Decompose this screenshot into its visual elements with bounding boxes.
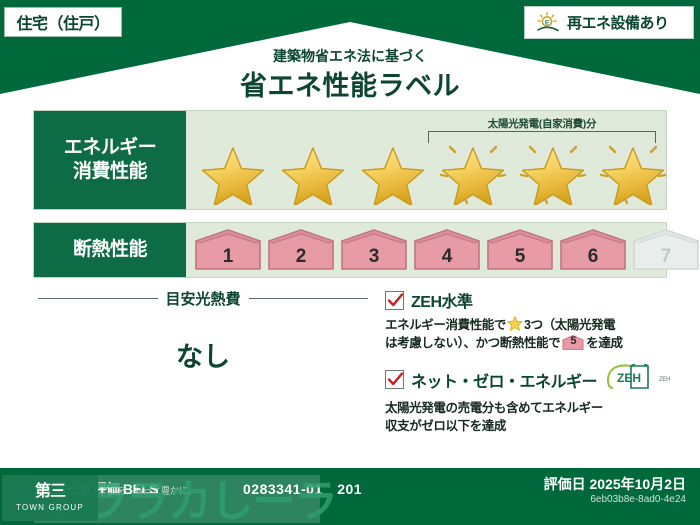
criteria-zeh-head: ZEH水準 — [385, 288, 675, 312]
nze-body-part1: 太陽光発電の売電分も含めてエネルギー — [385, 401, 603, 415]
watermark-logo: 第三 TOWN GROUP — [2, 475, 98, 521]
energy-label-card: 住宅（住戸） E 再エネ設備あり 建築物省エネ法に基づく 省エネ性能ラベル エネ… — [0, 0, 700, 525]
criteria-zeh-standard: ZEH水準 エネルギー消費性能で3つ（太陽光発電は考慮しない）、かつ断熱性能で5… — [385, 288, 675, 352]
insulation-grade-row: 1 2 3 4 5 6 7 — [194, 223, 658, 277]
utility-cost-title: 目安光熱費 — [166, 288, 241, 309]
house-type-tag: 住宅（住戸） — [4, 7, 122, 37]
energy-stars-area: 太陽光発電(自家消費)分 — [194, 111, 662, 209]
insulation-label-text: 断熱性能 — [73, 238, 147, 262]
star-base — [354, 139, 432, 205]
watermark-logo-ja: 第三 — [35, 484, 65, 500]
criteria-net-zero-energy: ネット・ゼロ・エネルギー ZEH ZEH 太陽光発電の売電分も含めてエネルギー収… — [385, 364, 675, 435]
star-solar — [434, 139, 512, 205]
solar-caption: 太陽光発電(自家消費)分 — [428, 116, 656, 131]
star-solar — [514, 139, 592, 205]
star-base — [194, 139, 272, 205]
insulation-grade-7: 7 — [632, 229, 700, 271]
insulation-grade-value: 6 — [559, 246, 627, 268]
zeh-logo-icon: ZEH — [607, 364, 651, 395]
energy-performance-row: エネルギー 消費性能 太陽光発電(自家消費)分 — [33, 110, 667, 210]
insulation-grade-value: 7 — [632, 246, 700, 268]
criteria-block: ZEH水準 エネルギー消費性能で3つ（太陽光発電は考慮しない）、かつ断熱性能で5… — [385, 288, 675, 448]
check-icon — [387, 371, 404, 388]
evaluation-date-label: 評価日 — [544, 476, 586, 492]
net-zero-energy-checkbox[interactable] — [385, 370, 404, 389]
utility-cost-value: なし — [38, 335, 368, 374]
energy-performance-label: エネルギー 消費性能 — [34, 111, 186, 209]
renewable-energy-label: 再エネ設備あり — [567, 12, 669, 33]
zeh-body-part2: 3つ（太陽光発電 — [524, 318, 615, 332]
energy-label-line1: エネルギー — [64, 136, 157, 160]
insulation-grade-value: 5 — [486, 246, 554, 268]
evaluation-uuid: 6eb03b8e-8ad0-4e24 — [590, 494, 686, 505]
insulation-grade-value: 4 — [413, 246, 481, 268]
insulation-performance-row: 断熱性能 1 2 3 4 5 6 7 — [33, 222, 667, 278]
watermark-logo-en: TOWN GROUP — [16, 503, 84, 512]
insulation-grade-1: 1 — [194, 229, 262, 271]
utility-cost-block: 目安光熱費 なし — [38, 288, 368, 374]
svg-text:ZEH: ZEH — [617, 371, 641, 385]
nze-body-part2: 収支がゼロ以下を達成 — [385, 419, 506, 433]
energy-star-row — [194, 139, 658, 205]
star-icon — [507, 316, 523, 331]
house-type-label: 住宅（住戸） — [16, 10, 109, 34]
insulation-grade-4: 4 — [413, 229, 481, 271]
rule-right — [249, 298, 369, 299]
criteria-nze-head: ネット・ゼロ・エネルギー ZEH ZEH — [385, 364, 675, 395]
sun-solar-icon: E — [535, 11, 561, 35]
zeh-standard-checkbox[interactable] — [385, 291, 404, 310]
inline-grade-value: 5 — [562, 334, 584, 350]
energy-label-line2: 消費性能 — [73, 160, 147, 184]
insulation-grade-value: 3 — [340, 246, 408, 268]
net-zero-energy-body: 太陽光発電の売電分も含めてエネルギー収支がゼロ以下を達成 — [385, 399, 675, 435]
star-solar — [594, 139, 672, 205]
zeh-body-part4: を達成 — [586, 336, 622, 350]
insulation-grade-value: 1 — [194, 246, 262, 268]
insulation-grade-3: 3 — [340, 229, 408, 271]
check-icon — [387, 292, 404, 309]
evaluation-date-value: 2025年10月2日 — [589, 476, 686, 492]
insulation-performance-label: 断熱性能 — [34, 223, 186, 277]
inline-grade-badge: 5 — [562, 335, 584, 350]
label-subtitle: 建築物省エネ法に基づく — [0, 46, 700, 66]
insulation-grade-2: 2 — [267, 229, 335, 271]
star-base — [274, 139, 352, 205]
zeh-body-part1: エネルギー消費性能で — [385, 318, 506, 332]
label-title: 省エネ性能ラベル — [0, 64, 700, 103]
net-zero-energy-title: ネット・ゼロ・エネルギー — [411, 368, 597, 392]
insulation-grade-6: 6 — [559, 229, 627, 271]
insulation-grade-value: 2 — [267, 246, 335, 268]
evaluation-date: 評価日 2025年10月2日 — [544, 474, 686, 494]
svg-text:E: E — [545, 20, 549, 26]
zeh-standard-title: ZEH水準 — [411, 288, 473, 312]
rule-left — [38, 298, 158, 299]
utility-cost-heading: 目安光熱費 — [38, 288, 368, 309]
zeh-body-part3: は考慮しない）、かつ断熱性能で — [385, 336, 560, 350]
zeh-trademark: ZEH — [659, 377, 670, 383]
renewable-energy-badge: E 再エネ設備あり — [524, 6, 694, 39]
zeh-standard-body: エネルギー消費性能で3つ（太陽光発電は考慮しない）、かつ断熱性能で5を達成 — [385, 316, 675, 352]
insulation-grade-5: 5 — [486, 229, 554, 271]
